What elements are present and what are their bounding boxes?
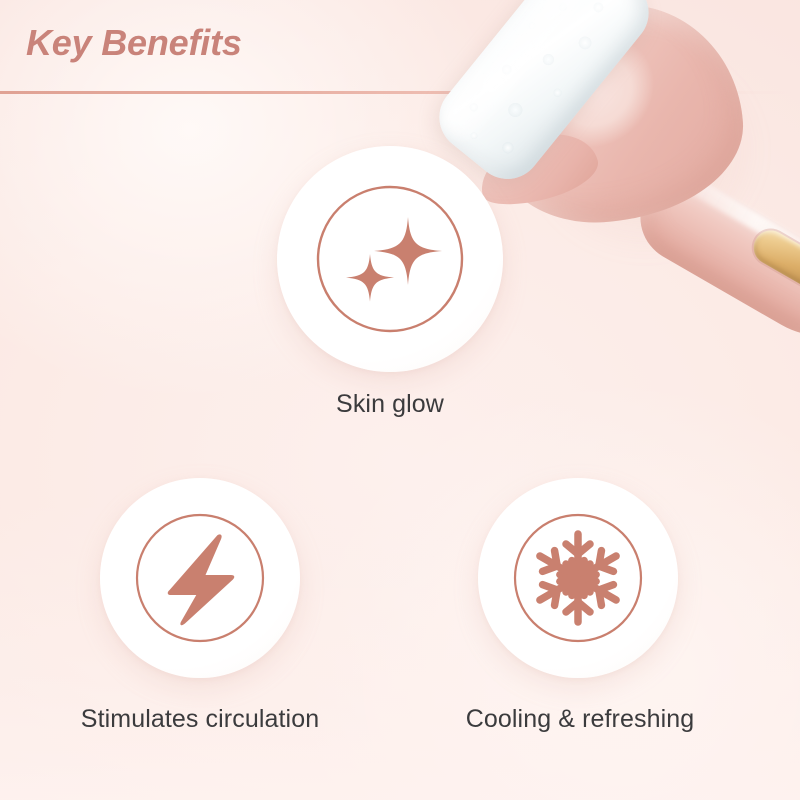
page-title: Key Benefits <box>26 22 242 64</box>
benefit-badge-stimulates-circulation[interactable] <box>100 478 300 678</box>
benefit-label-cooling-refreshing: Cooling & refreshing <box>400 705 760 734</box>
benefit-badge-skin-glow[interactable] <box>277 146 503 372</box>
benefit-badge-cooling-refreshing[interactable] <box>478 478 678 678</box>
key-benefits-poster: Key Benefits Skin glow <box>0 0 800 800</box>
header-divider <box>0 91 800 94</box>
snowflake-icon <box>512 512 644 644</box>
benefit-label-skin-glow: Skin glow <box>0 390 780 419</box>
lightning-bolt-icon <box>134 512 266 644</box>
benefit-label-stimulates-circulation: Stimulates circulation <box>20 705 380 734</box>
sparkle-icon <box>315 184 465 334</box>
